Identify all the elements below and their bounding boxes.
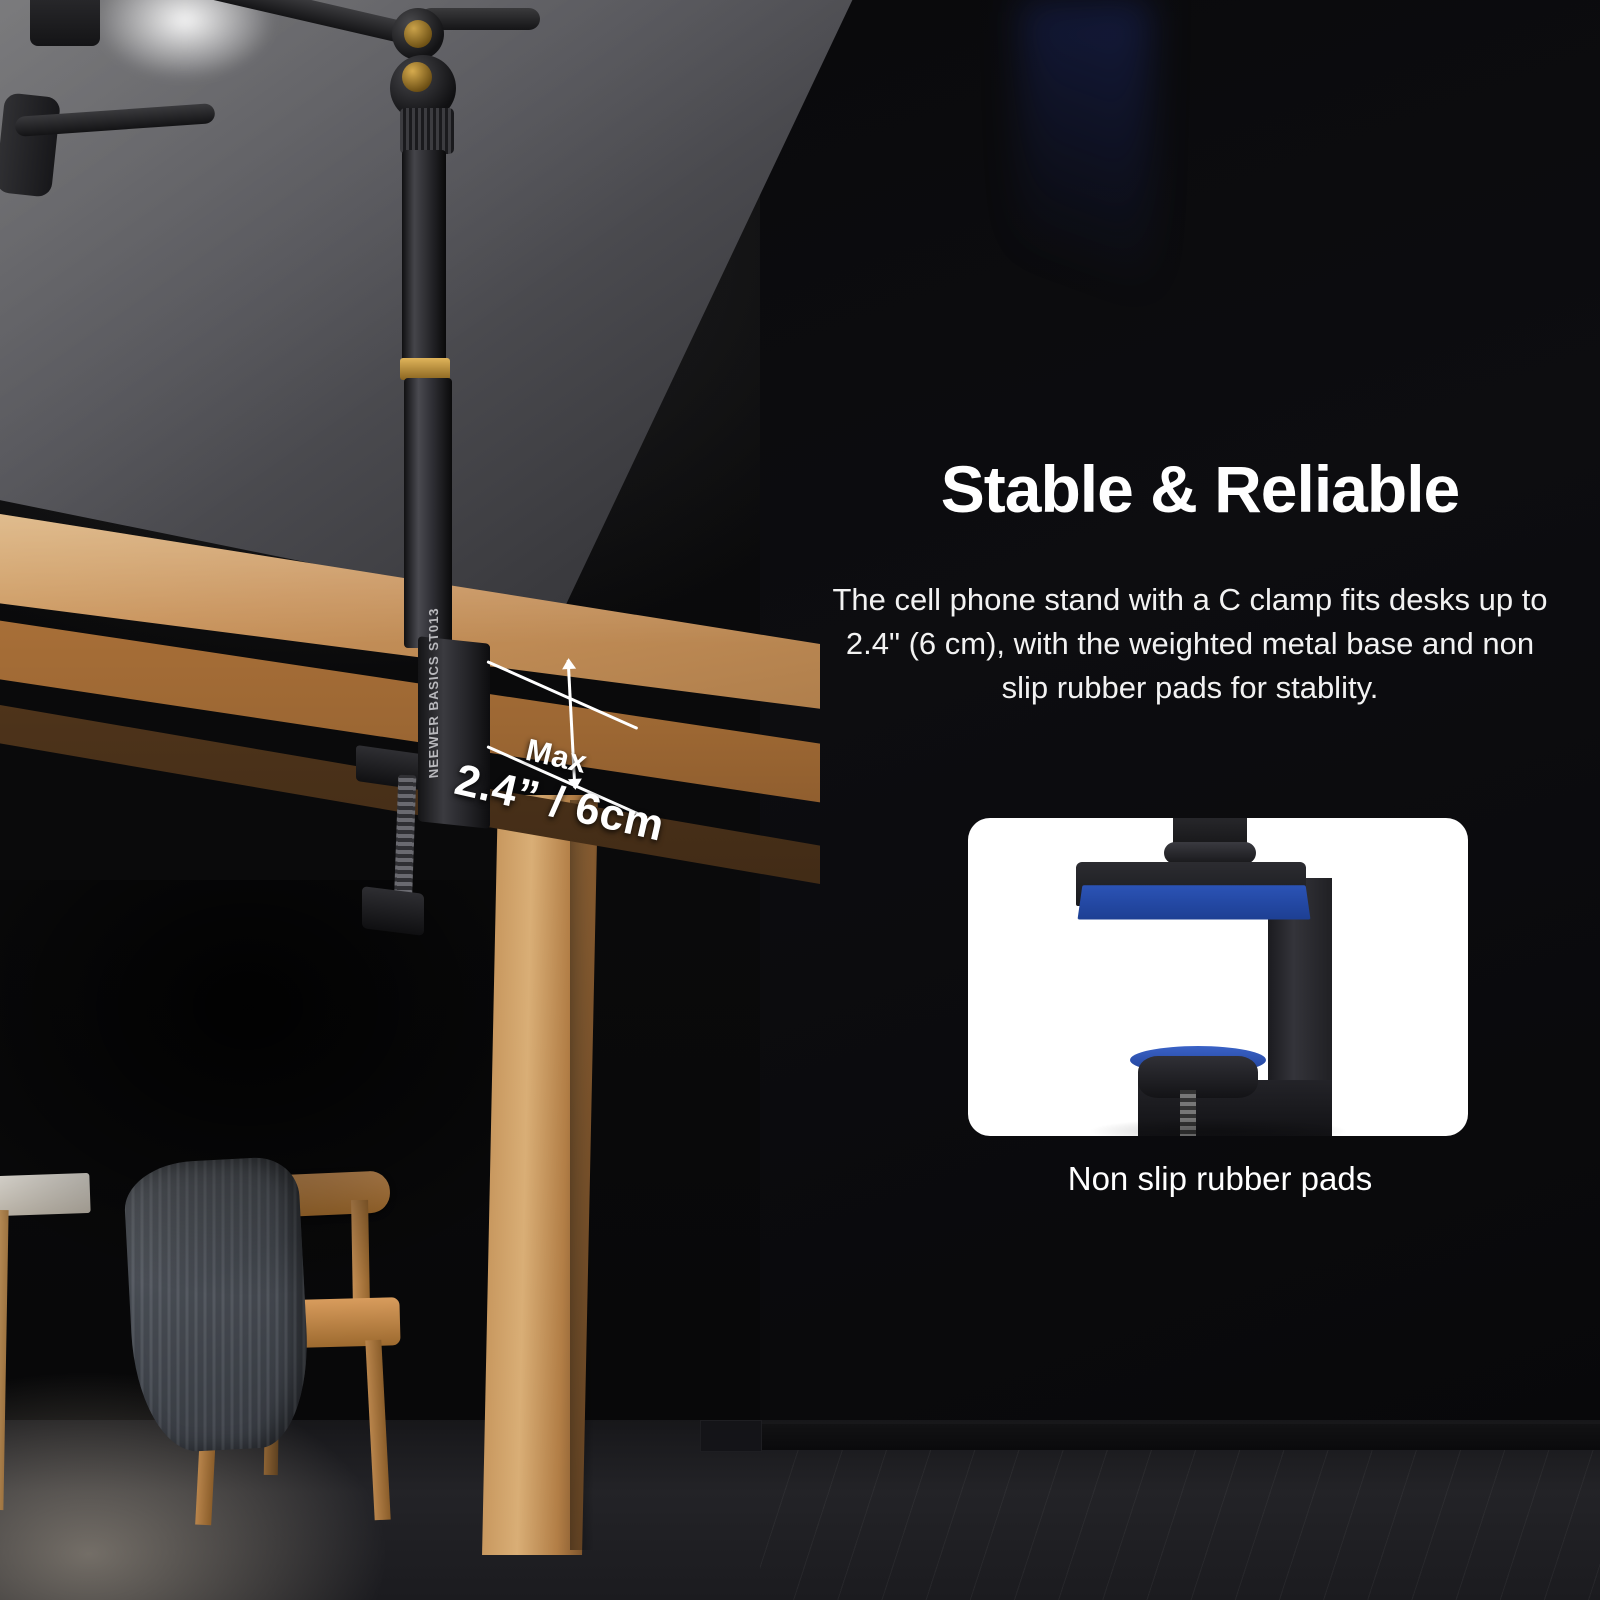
wall-outlet [700, 1420, 762, 1452]
desk-leg-shadow [570, 800, 594, 1550]
product-feature-image: NEEWER BASICS ST013 Max 2.4” / 6cm Stabl… [0, 0, 1600, 1600]
inset-mount-collar [1164, 842, 1256, 864]
page-title: Stable & Reliable [830, 455, 1570, 524]
arm-elbow-joint [0, 92, 61, 197]
pole-adjust-knob [400, 108, 454, 154]
clamp-brand-text: NEEWER BASICS ST013 [426, 667, 446, 779]
pole-upper-section [402, 150, 446, 380]
arm-joint-upper-screw [404, 20, 432, 48]
inset-rubber-pad-top [1078, 885, 1311, 919]
inset-drop-shadow [1088, 1118, 1348, 1136]
arm-joint-lower-screw [402, 62, 432, 92]
arm-end-clamp [30, 0, 100, 46]
baseboard [700, 1424, 1600, 1450]
pole-brass-ring [400, 358, 450, 380]
body-copy: The cell phone stand with a C clamp fits… [830, 578, 1550, 710]
inset-caption: Non slip rubber pads [900, 1160, 1540, 1198]
clamp-foot-pad [362, 886, 424, 936]
panel-light-hotspot [95, 0, 275, 80]
floor-plank-lines [760, 1430, 1600, 1600]
wall-blue-glow [1020, 0, 1150, 350]
detail-inset-card [968, 818, 1468, 1136]
inset-clamp-knob [1138, 1056, 1258, 1098]
wall-right [760, 0, 1600, 1480]
